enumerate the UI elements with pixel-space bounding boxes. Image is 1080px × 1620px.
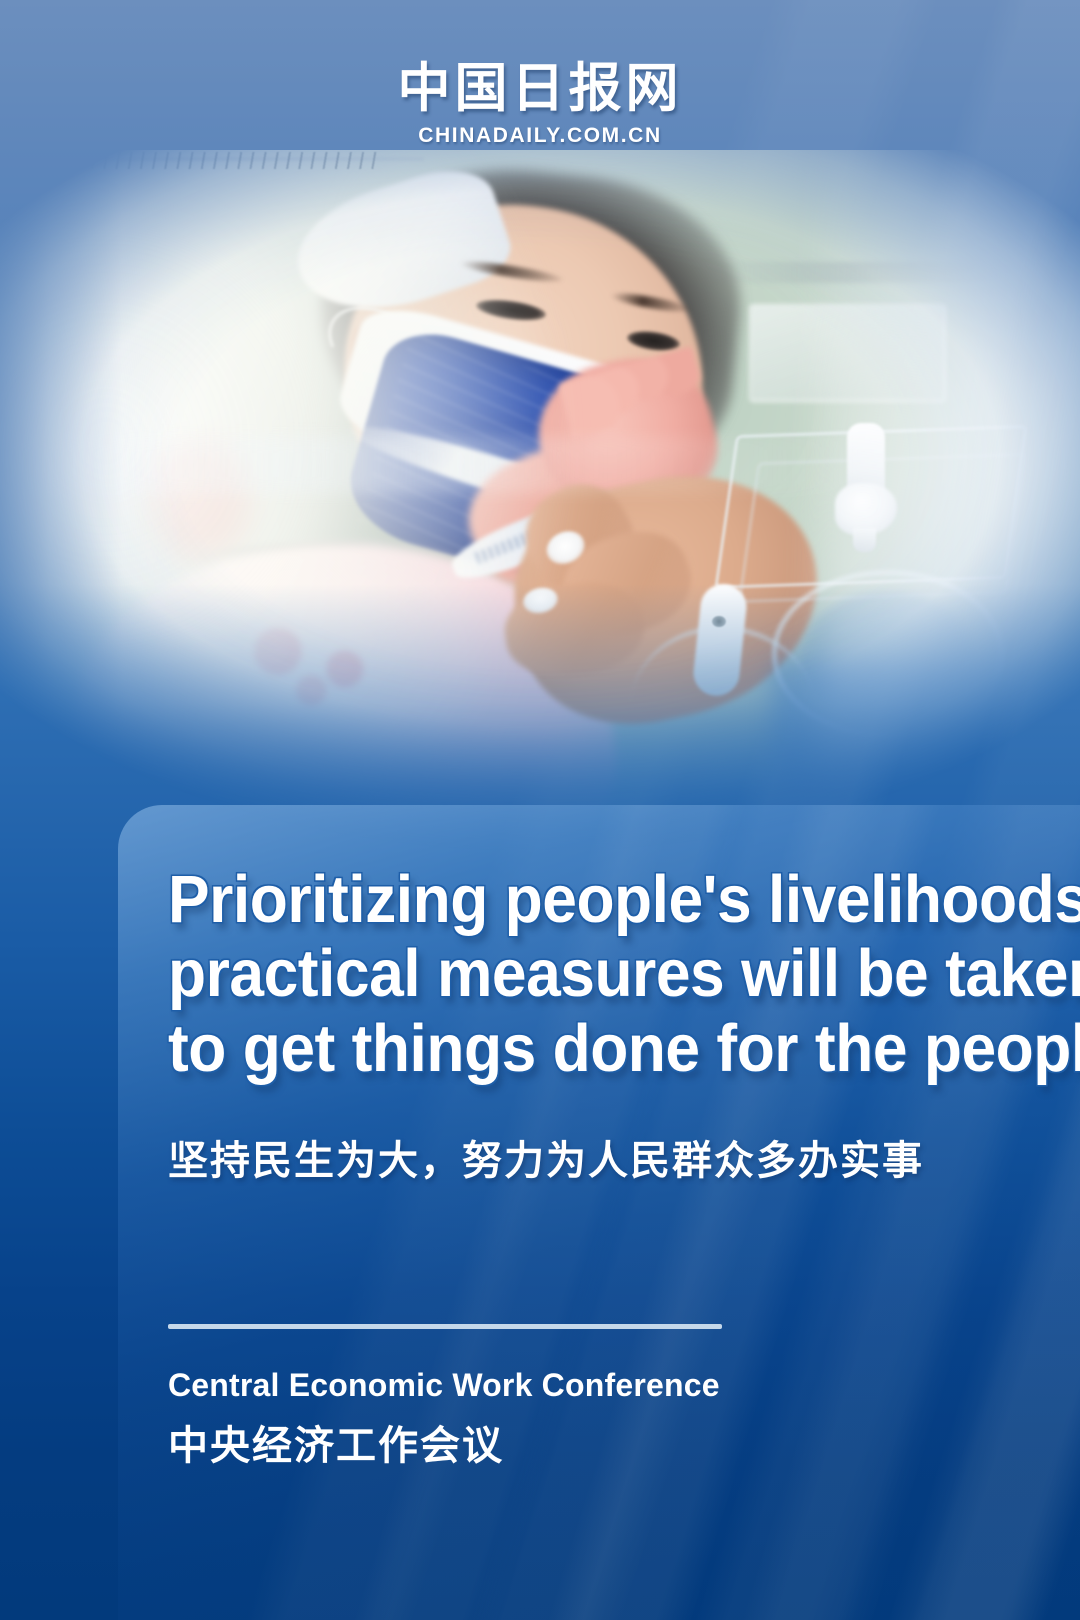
footer-event-name-chinese: 中央经济工作会议 — [168, 1413, 1080, 1471]
headline-line-3: to get things done for the people — [168, 1012, 1016, 1086]
divider — [168, 1324, 722, 1329]
headline-line-2: practical measures will be taken — [168, 937, 1016, 1011]
content-card: Prioritizing people's livelihoods, pract… — [118, 805, 1080, 1620]
hero-photo — [0, 150, 1080, 850]
china-daily-logo-icon: 中国日报网 — [0, 62, 1080, 115]
poster-root: 中国日报网 CHINADAILY.COM.CN Prioritizing peo… — [0, 0, 1080, 1620]
footer-event-name-english: Central Economic Work Conference — [168, 1367, 1080, 1404]
hero-photo-scene — [0, 150, 1080, 850]
masthead: 中国日报网 CHINADAILY.COM.CN — [0, 62, 1080, 148]
card-content: Prioritizing people's livelihoods, pract… — [118, 805, 1080, 1471]
headline-line-1: Prioritizing people's livelihoods, — [168, 863, 1016, 937]
subtitle-chinese: 坚持民生为大，努力为人民群众多办实事 — [168, 1128, 1080, 1186]
headline: Prioritizing people's livelihoods, pract… — [168, 863, 1016, 1086]
masthead-url: CHINADAILY.COM.CN — [0, 124, 1080, 148]
